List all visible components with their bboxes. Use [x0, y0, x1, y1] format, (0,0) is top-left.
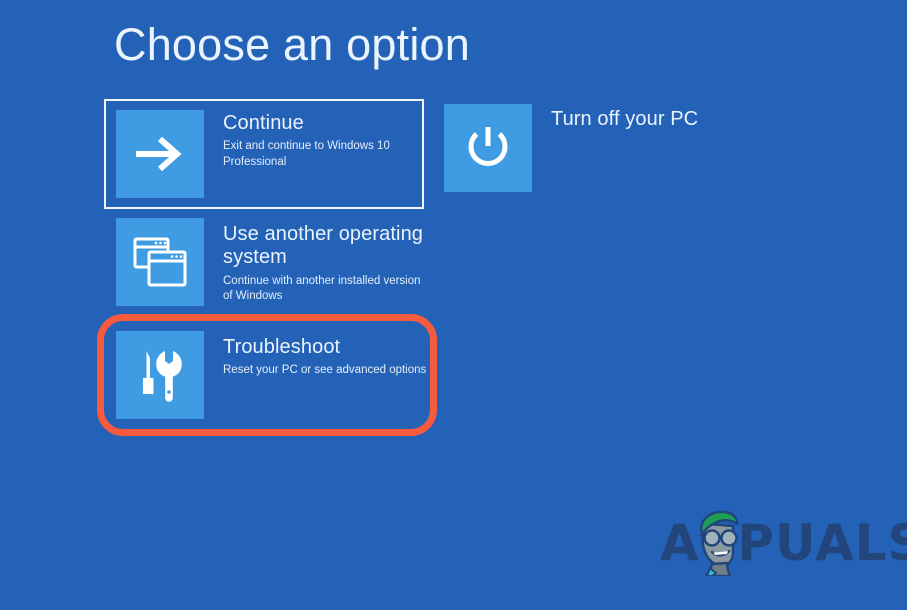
option-turn-off-your-pc[interactable]: Turn off your PC — [444, 104, 744, 194]
watermark-suffix: PUALS — [737, 514, 907, 572]
option-use-another-operating-system[interactable]: Use another operating system Continue wi… — [116, 218, 436, 308]
screwdriver-wrench-icon — [135, 348, 185, 402]
appuals-watermark: APPUALS — [660, 508, 870, 580]
turnoff-labels: Turn off your PC — [532, 104, 698, 131]
option-continue-title: Continue — [223, 112, 390, 135]
option-troubleshoot[interactable]: Troubleshoot Reset your PC or see advanc… — [116, 331, 436, 421]
appuals-mascot-icon — [688, 508, 754, 576]
troubleshoot-tile — [116, 331, 204, 419]
option-troubleshoot-subtitle: Reset your PC or see advanced options — [223, 363, 426, 379]
turnoff-tile — [444, 104, 532, 192]
other-os-labels: Use another operating system Continue wi… — [204, 218, 423, 305]
two-windows-icon — [132, 236, 188, 288]
page-title: Choose an option — [114, 22, 470, 67]
power-icon — [463, 122, 513, 174]
option-turnoff-title: Turn off your PC — [551, 108, 698, 131]
option-continue-subtitle: Exit and continue to Windows 10 Professi… — [223, 139, 390, 170]
option-other-os-subtitle: Continue with another installed version … — [223, 274, 423, 305]
option-other-os-title: Use another operating system — [223, 223, 423, 270]
option-continue[interactable]: Continue Exit and continue to Windows 10… — [104, 99, 424, 209]
choose-an-option-screen: Choose an option Continue Exit and conti… — [0, 0, 907, 610]
arrow-right-icon — [134, 133, 186, 175]
continue-labels: Continue Exit and continue to Windows 10… — [204, 110, 390, 170]
other-os-tile — [116, 218, 204, 306]
continue-tile — [116, 110, 204, 198]
option-troubleshoot-title: Troubleshoot — [223, 336, 426, 359]
troubleshoot-labels: Troubleshoot Reset your PC or see advanc… — [204, 331, 426, 379]
